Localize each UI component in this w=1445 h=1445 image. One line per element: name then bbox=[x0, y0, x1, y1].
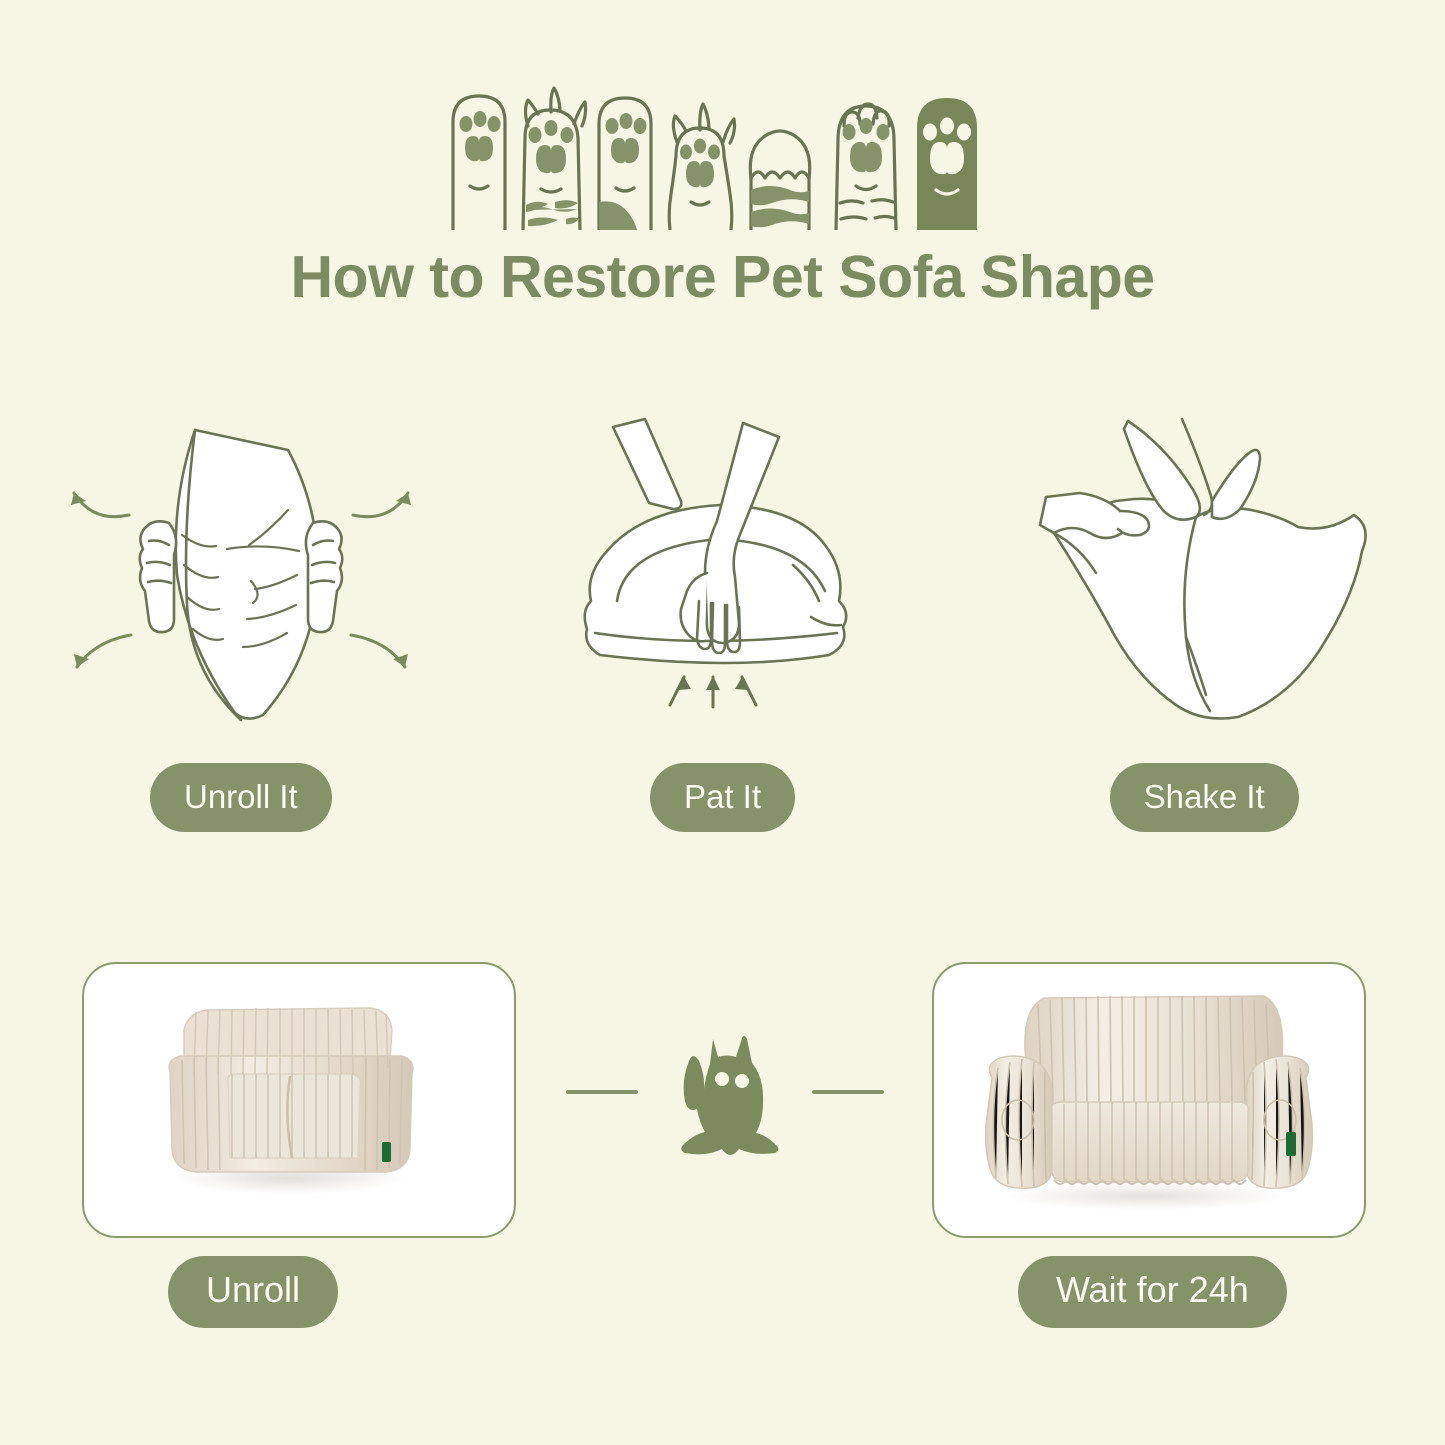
comparison-divider bbox=[540, 992, 910, 1192]
after-label-wrap: Wait for 24h bbox=[1018, 1256, 1287, 1328]
step-label-unroll-it: Unroll It bbox=[150, 763, 332, 832]
step-label-pat-it: Pat It bbox=[650, 763, 795, 832]
comparison-labels: Unroll Wait for 24h bbox=[0, 1256, 1445, 1326]
unroll-cushion-illustration bbox=[41, 405, 441, 735]
cat-silhouette-icon bbox=[666, 1017, 784, 1167]
shake-cushion-illustration bbox=[1024, 405, 1384, 735]
step-label-wrap: Unroll It bbox=[150, 763, 332, 832]
before-label-wrap: Unroll bbox=[168, 1256, 338, 1328]
expanded-pet-sofa-photo bbox=[934, 964, 1364, 1236]
step-unroll-it: Unroll It bbox=[0, 405, 482, 835]
after-photo-card bbox=[932, 962, 1366, 1238]
rolled-pet-sofa-photo bbox=[84, 964, 514, 1236]
step-label-wrap: Shake It bbox=[1110, 763, 1299, 832]
pat-cushion-illustration bbox=[553, 405, 893, 735]
after-label: Wait for 24h bbox=[1018, 1256, 1287, 1328]
step-label-wrap: Pat It bbox=[650, 763, 795, 832]
step-label-shake-it: Shake It bbox=[1110, 763, 1299, 832]
before-label: Unroll bbox=[168, 1256, 338, 1328]
cat-paws-row-icon bbox=[440, 62, 1020, 230]
before-photo-card bbox=[82, 962, 516, 1238]
divider-dash-left bbox=[566, 1090, 638, 1094]
comparison-row bbox=[0, 962, 1445, 1262]
page-title: How to Restore Pet Sofa Shape bbox=[0, 248, 1445, 307]
step-shake-it: Shake It bbox=[963, 405, 1445, 835]
steps-row: Unroll It bbox=[0, 405, 1445, 835]
step-pat-it: Pat It bbox=[482, 405, 964, 835]
divider-dash-right bbox=[812, 1090, 884, 1094]
infographic-page: How to Restore Pet Sofa Shape bbox=[0, 0, 1445, 1445]
